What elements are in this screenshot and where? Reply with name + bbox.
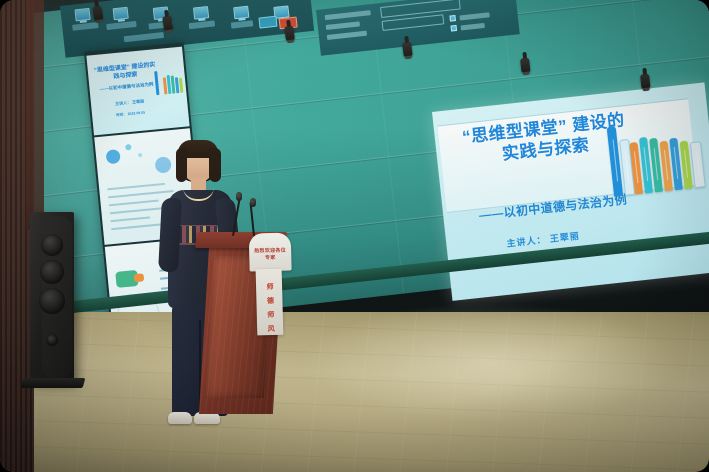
track-light-3 <box>284 25 295 41</box>
sign-body-text: 师德师风 <box>264 281 277 337</box>
sign-head: 热烈欢迎各位专家 <box>249 232 292 271</box>
track-light-6 <box>640 74 651 90</box>
speaker-driver-low <box>39 288 65 314</box>
start-button[interactable] <box>258 16 277 29</box>
presenter-hair-right <box>209 148 221 182</box>
presenter-shoe-left <box>168 412 192 424</box>
presenter-arm-left <box>158 198 182 273</box>
sign-head-text: 热烈欢迎各位专家 <box>252 247 288 262</box>
monitor-slide-subtitle: ——以初中道德与法治为例 <box>97 81 155 93</box>
track-light-4 <box>402 41 413 57</box>
monitor-slide-preview: “思维型课堂” 建设的实践与探索 ——以初中道德与法治为例 主讲人： 王翠丽 时… <box>86 47 189 136</box>
option-checkbox-2[interactable] <box>450 25 457 32</box>
speaker-base <box>21 378 86 388</box>
floor-standing-loudspeaker <box>30 212 74 382</box>
speaker-driver-mid <box>40 260 64 284</box>
floor-glare <box>300 302 680 422</box>
laptop-source-icon[interactable] <box>113 7 129 21</box>
speaker-port <box>46 334 58 346</box>
monitor-slide-datetime: 时间： 2023.09.05 <box>116 109 164 119</box>
sign-body: 师德师风 <box>256 269 284 336</box>
display-source-icon[interactable] <box>74 8 90 22</box>
monitor-slide-title: “思维型课堂” 建设的实践与探索 <box>93 61 156 83</box>
gooseneck-mic-right-head <box>250 198 256 207</box>
speaker-driver-top <box>41 234 63 256</box>
monitor-books-graphic <box>154 66 186 95</box>
gooseneck-mic-left-head <box>236 192 242 201</box>
podium-welcome-sign: 热烈欢迎各位专家 师德师风 <box>249 232 294 335</box>
floor <box>0 312 709 472</box>
presenter-hair-left <box>176 148 187 182</box>
camera-icon[interactable] <box>193 6 209 20</box>
monitor-slide-presenter: 主讲人： 王翠丽 <box>115 97 163 108</box>
recorder-icon[interactable] <box>233 6 249 20</box>
option-checkbox[interactable] <box>449 15 456 22</box>
track-light-5 <box>520 58 531 74</box>
lecture-hall-photo: “思维型课堂” 建设的 实践与探索 ——以初中道德与法治为例 主讲人： 王翠丽 … <box>0 0 709 472</box>
slide-books-graphic <box>606 110 709 197</box>
wall-wood-panel-secondary <box>26 0 44 230</box>
